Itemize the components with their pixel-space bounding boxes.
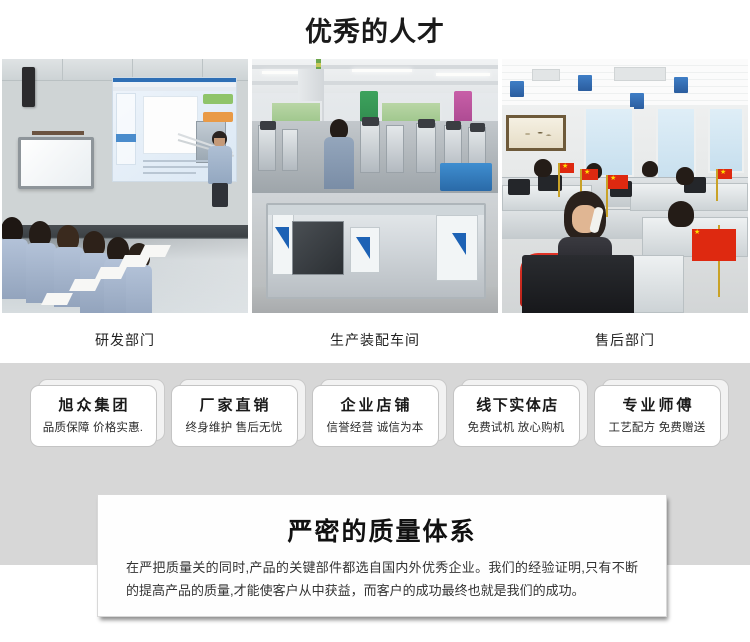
blue-crate (440, 163, 492, 191)
page-title: 优秀的人才 (0, 0, 750, 48)
wall-painting (506, 115, 566, 151)
assembly-workshop-photo[interactable] (252, 59, 498, 313)
badge-card[interactable]: 企业店铺 信誉经营 诚信为本 (312, 385, 439, 447)
badge-title: 厂家直销 (196, 397, 271, 416)
photo-gallery: 研发部门 (0, 59, 750, 350)
whiteboard-rail (32, 131, 84, 135)
quality-system-panel: 严密的质量体系 在严把质量关的同时,产品的关键部件都选自国内外优秀企业。我们的经… (97, 494, 667, 617)
photo-cell-aftersales: 售后部门 (502, 59, 748, 350)
badge-subtitle: 信誉经营 诚信为本 (327, 419, 424, 435)
worker-person (324, 119, 354, 187)
flag-icon (718, 169, 732, 179)
staff-person (676, 167, 694, 189)
feature-badge[interactable]: 旭众集团 品质保障 价格实惠. (30, 383, 157, 445)
flag-icon (582, 169, 598, 180)
staff-person (642, 161, 658, 181)
photo-caption-aftersales: 售后部门 (502, 313, 748, 350)
desktop-monitor (522, 255, 634, 313)
badge-card[interactable]: 专业师傅 工艺配方 免费赠送 (594, 385, 721, 447)
flag-icon (692, 229, 736, 261)
photo-caption-production: 生产装配车间 (252, 313, 498, 350)
badge-title: 企业店铺 (337, 397, 412, 416)
feature-badge[interactable]: 线下实体店 免费试机 放心购机 (453, 383, 580, 445)
staff-person (668, 201, 694, 235)
whiteboard (18, 137, 94, 189)
ceiling (502, 59, 748, 105)
badge-subtitle: 终身维护 售后无忧 (186, 419, 283, 435)
feature-badge[interactable]: 专业师傅 工艺配方 免费赠送 (594, 383, 721, 445)
after-sales-office-photo[interactable] (502, 59, 748, 313)
meeting-room-photo[interactable] (2, 59, 248, 313)
quality-body-text: 在严把质量关的同时,产品的关键部件都选自国内外优秀企业。我们的经验证明,只有不断… (98, 548, 666, 603)
badge-subtitle: 免费试机 放心购机 (468, 419, 565, 435)
badge-card[interactable]: 线下实体店 免费试机 放心购机 (453, 385, 580, 447)
badge-card[interactable]: 旭众集团 品质保障 价格实惠. (30, 385, 157, 447)
flag-icon (560, 163, 574, 173)
badge-subtitle: 工艺配方 免费赠送 (609, 419, 706, 435)
badge-title: 旭众集团 (55, 397, 130, 416)
ceiling-line (62, 59, 63, 81)
feature-badge-row: 旭众集团 品质保障 价格实惠. 厂家直销 终身维护 售后无忧 企业店铺 信誉经营… (0, 383, 750, 445)
badge-card[interactable]: 厂家直销 终身维护 售后无忧 (171, 385, 298, 447)
feature-badge[interactable]: 厂家直销 终身维护 售后无忧 (171, 383, 298, 445)
feature-badge[interactable]: 企业店铺 信誉经营 诚信为本 (312, 383, 439, 445)
flag-icon (608, 175, 628, 189)
presenter-person (208, 131, 234, 207)
photo-cell-rd: 研发部门 (2, 59, 248, 350)
photo-cell-production: 生产装配车间 (252, 59, 498, 350)
window (708, 107, 744, 173)
staff-person (534, 159, 552, 181)
assembly-machine (266, 203, 486, 299)
badge-title: 专业师傅 (619, 397, 694, 416)
badge-subtitle: 品质保障 价格实惠. (43, 419, 143, 435)
speaker-icon (22, 67, 35, 107)
photo-caption-rd: 研发部门 (2, 313, 248, 350)
quality-title: 严密的质量体系 (98, 495, 666, 548)
badge-title: 线下实体店 (473, 397, 559, 416)
